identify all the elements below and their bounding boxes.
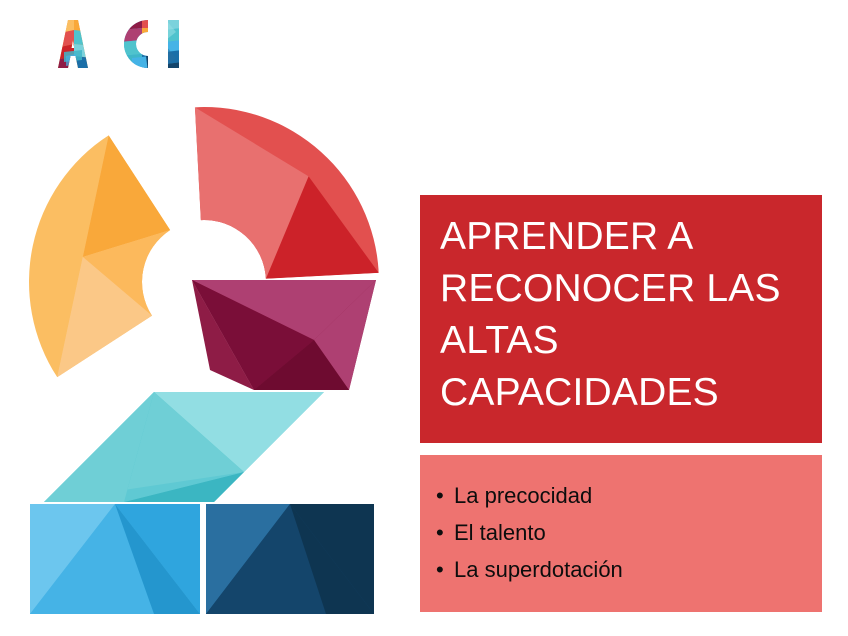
bullet-panel: • La precocidad • El talento • La superd… xyxy=(420,455,822,612)
slide-canvas: APRENDER A RECONOCER LAS ALTAS CAPACIDAD… xyxy=(0,0,848,636)
logo-letter-a xyxy=(56,16,92,72)
logo-letter-c xyxy=(120,16,164,72)
list-item-label: La precocidad xyxy=(454,483,592,508)
list-item: • El talento xyxy=(432,514,804,551)
bullet-marker: • xyxy=(436,477,444,514)
bullet-marker: • xyxy=(436,514,444,551)
list-item-label: La superdotación xyxy=(454,557,623,582)
logo-letter-i xyxy=(166,16,182,72)
aci-logo-mark xyxy=(36,16,186,72)
aci-logo xyxy=(36,16,186,72)
number-two-svg xyxy=(14,102,394,614)
segment-lower-diagonal xyxy=(44,392,324,502)
title-panel: APRENDER A RECONOCER LAS ALTAS CAPACIDAD… xyxy=(420,195,822,443)
number-two-graphic xyxy=(14,102,394,614)
bullet-marker: • xyxy=(436,551,444,588)
slide-title: APRENDER A RECONOCER LAS ALTAS CAPACIDAD… xyxy=(440,211,804,419)
segment-base-right xyxy=(206,504,374,614)
segment-middle-diagonal xyxy=(192,280,376,390)
segment-base-left xyxy=(30,504,200,614)
bullet-list: • La precocidad • El talento • La superd… xyxy=(432,477,804,588)
list-item: • La superdotación xyxy=(432,551,804,588)
list-item-label: El talento xyxy=(454,520,546,545)
list-item: • La precocidad xyxy=(432,477,804,514)
